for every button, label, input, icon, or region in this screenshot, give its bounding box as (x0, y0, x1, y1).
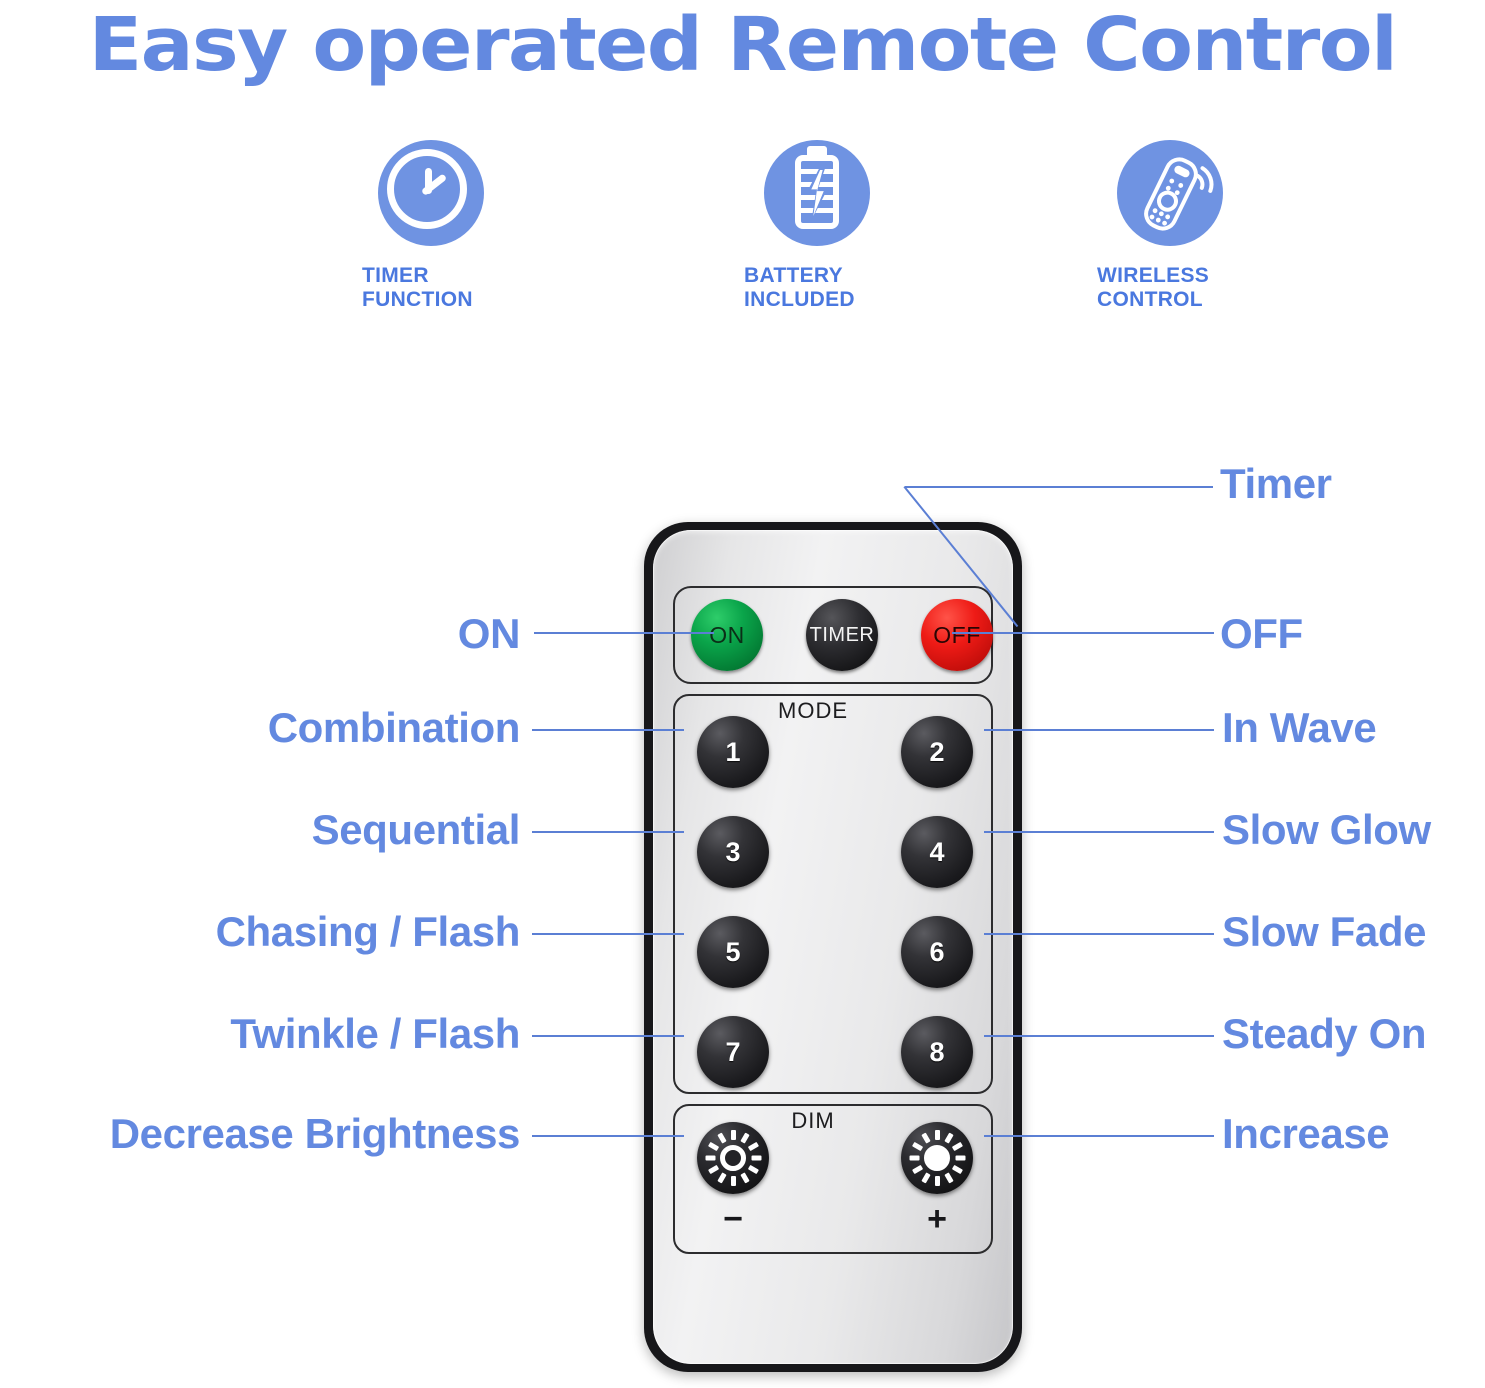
sun-ray (748, 1142, 759, 1151)
sun-ray (912, 1165, 923, 1174)
leader-line-combination (532, 729, 684, 731)
feature-timer-function: TIMER FUNCTION (362, 138, 592, 312)
callout-on: ON (180, 610, 520, 658)
remote-button-mode-8[interactable]: 8 (901, 1016, 973, 1088)
sun-ray (912, 1142, 923, 1151)
remote-button-mode-1[interactable]: 1 (697, 716, 769, 788)
sun-ray (944, 1133, 953, 1144)
leader-line-increase (984, 1135, 1214, 1137)
callout-slow-glow: Slow Glow (1222, 806, 1431, 854)
sun-ray (706, 1156, 716, 1161)
sun-ray (935, 1176, 940, 1186)
feature-label-timer: TIMER FUNCTION (362, 264, 592, 312)
sun-ray (717, 1172, 726, 1183)
leader-line-steady-on (984, 1035, 1214, 1037)
leader-line-in-wave (984, 729, 1214, 731)
sun-ray (752, 1156, 762, 1161)
callout-timer: Timer (1220, 460, 1332, 508)
infographic-canvas: Easy operated Remote Control TIMER FUNCT… (0, 0, 1485, 1388)
battery-icon (754, 138, 874, 256)
feature-label-wireless: WIRELESS CONTROL (1097, 264, 1325, 312)
remote-button-mode-3[interactable]: 3 (697, 816, 769, 888)
leader-line-chasing (532, 933, 684, 935)
remote-button-off[interactable]: OFF (921, 599, 993, 671)
sun-ray (921, 1133, 930, 1144)
sun-ray (748, 1165, 759, 1174)
leader-line-off (952, 632, 1214, 634)
remote-glyph (1119, 142, 1223, 246)
sun-ray (731, 1176, 736, 1186)
sun-bright-icon (909, 1130, 965, 1186)
feature-badges: TIMER FUNCTION BATTERY INCLUDED (300, 138, 1360, 318)
remote-button-dim-decrease[interactable] (697, 1122, 769, 1194)
feature-wireless-control: WIRELESS CONTROL (1095, 138, 1325, 312)
sun-ray (956, 1156, 966, 1161)
sun-ray (731, 1130, 736, 1140)
callout-twinkle-flash: Twinkle / Flash (40, 1010, 520, 1058)
sun-ray (910, 1156, 920, 1161)
sun-dim-icon (705, 1130, 761, 1186)
callout-decrease-brightness: Decrease Brightness (8, 1110, 520, 1158)
sun-ray (708, 1165, 719, 1174)
sun-ray (740, 1172, 749, 1183)
remote-button-mode-5[interactable]: 5 (697, 916, 769, 988)
callout-increase: Increase (1222, 1110, 1389, 1158)
clock-icon (368, 138, 488, 256)
sun-ray (740, 1133, 749, 1144)
remote-button-mode-6[interactable]: 6 (901, 916, 973, 988)
sun-ray (952, 1165, 963, 1174)
remote-icon (1107, 138, 1227, 256)
callout-in-wave: In Wave (1222, 704, 1376, 752)
leader-line-decrease (532, 1135, 684, 1137)
sun-ray (952, 1142, 963, 1151)
callout-combination: Combination (60, 704, 520, 752)
leader-line-slow-fade (984, 933, 1214, 935)
dim-minus-label: − (697, 1202, 769, 1236)
feature-battery-included: BATTERY INCLUDED (740, 138, 970, 312)
remote-button-mode-7[interactable]: 7 (697, 1016, 769, 1088)
sun-ray (935, 1130, 940, 1140)
callout-off: OFF (1220, 610, 1303, 658)
remote-button-timer[interactable]: TIMER (806, 599, 878, 671)
remote-button-on[interactable]: ON (691, 599, 763, 671)
dim-plus-label: + (901, 1202, 973, 1236)
feature-label-battery: BATTERY INCLUDED (744, 264, 970, 312)
leader-line-twinkle (532, 1035, 684, 1037)
remote-button-dim-increase[interactable] (901, 1122, 973, 1194)
sun-core (924, 1145, 950, 1171)
sun-ray (708, 1142, 719, 1151)
callout-slow-fade: Slow Fade (1222, 908, 1426, 956)
remote-button-mode-4[interactable]: 4 (901, 816, 973, 888)
leader-line-on (534, 632, 714, 634)
leader-line-sequential (532, 831, 684, 833)
sun-ray (717, 1133, 726, 1144)
sun-core (720, 1145, 746, 1171)
callout-steady-on: Steady On (1222, 1010, 1426, 1058)
leader-line-slow-glow (984, 831, 1214, 833)
page-title: Easy operated Remote Control (0, 2, 1485, 88)
callout-sequential: Sequential (60, 806, 520, 854)
remote-button-mode-2[interactable]: 2 (901, 716, 973, 788)
callout-chasing-flash: Chasing / Flash (40, 908, 520, 956)
sun-ray (921, 1172, 930, 1183)
battery-cap (807, 146, 827, 155)
remote-control-device: MODE DIM ON TIMER OFF 1 2 3 4 5 6 7 8 (644, 522, 1022, 1372)
leader-line-timer (905, 486, 1213, 488)
remote-faceplate: MODE DIM ON TIMER OFF 1 2 3 4 5 6 7 8 (653, 530, 1013, 1364)
sun-ray (944, 1172, 953, 1183)
